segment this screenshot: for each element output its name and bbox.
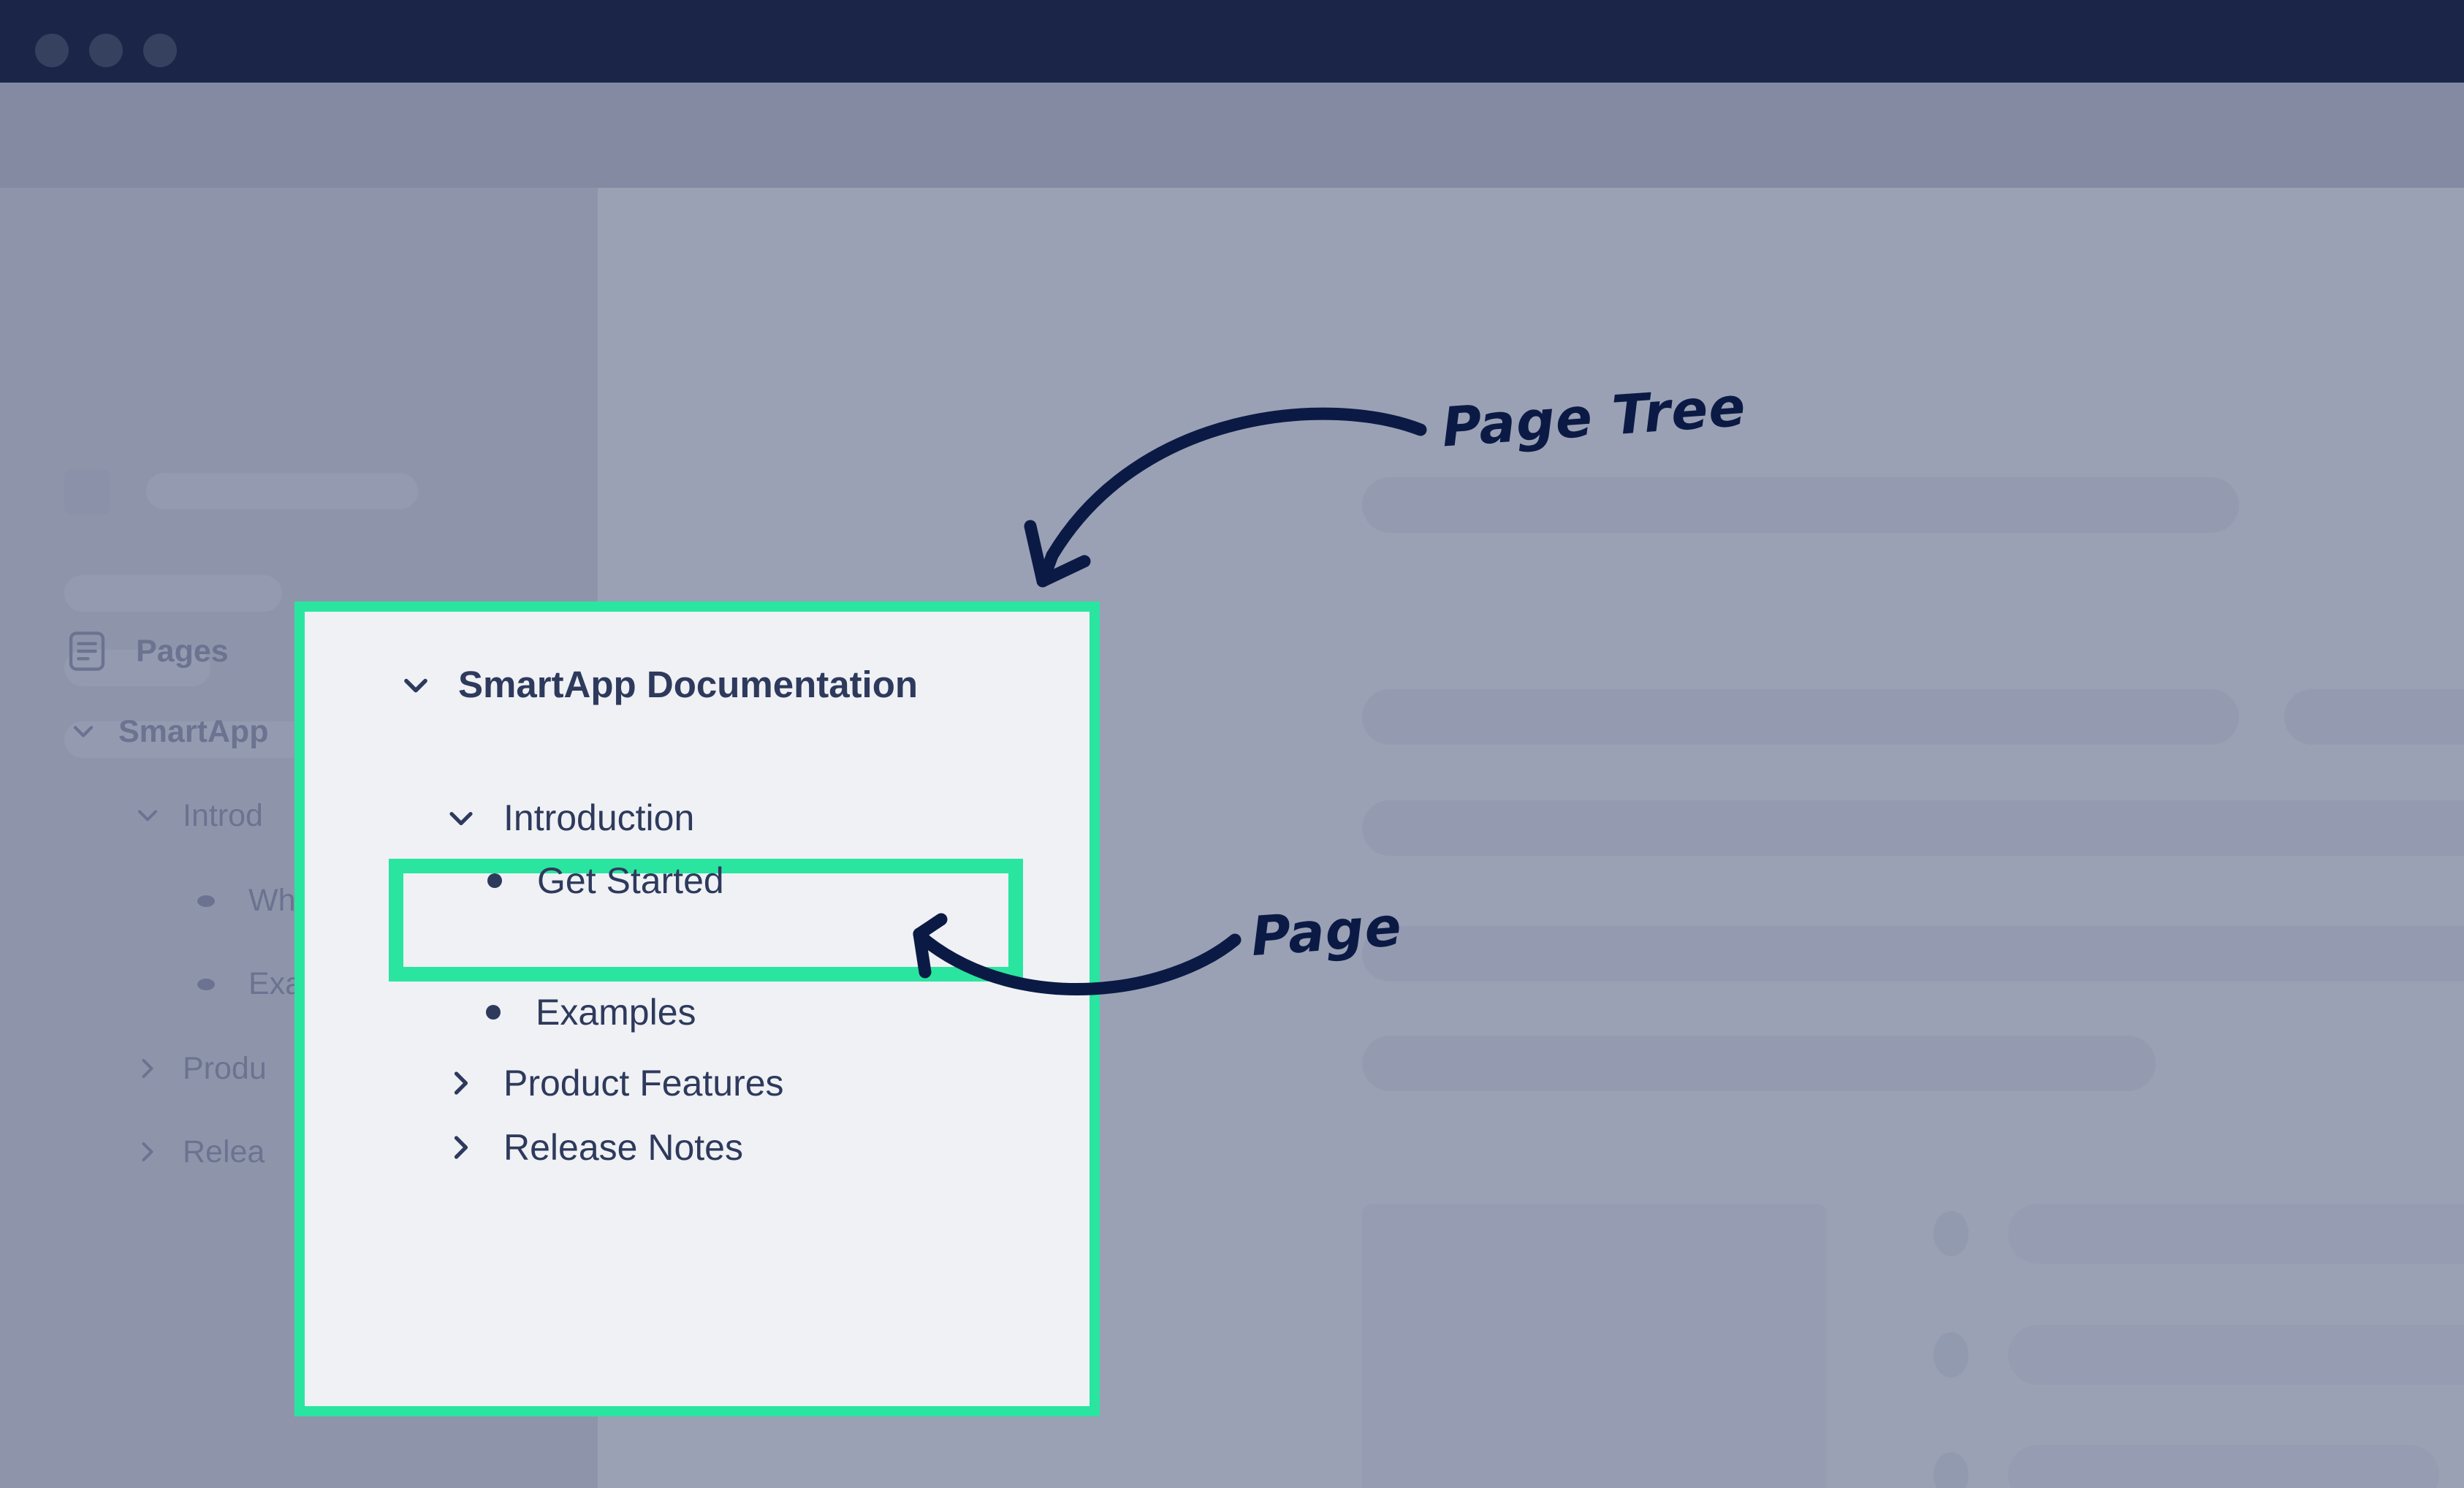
bg-tree-item-release-notes[interactable]: Relea <box>129 1133 265 1171</box>
content-list-bar-2 <box>2008 1325 2464 1385</box>
app-toolbar <box>0 83 2464 188</box>
content-list-bar-3 <box>2008 1445 2439 1488</box>
content-list-bar-1 <box>2008 1204 2464 1264</box>
content-placeholder-5 <box>1362 926 2464 982</box>
tree-item-label: Product Features <box>503 1062 784 1104</box>
tree-item-smartapp-documentation[interactable]: SmartApp Documentation <box>395 663 918 706</box>
content-placeholder-3 <box>2284 689 2464 745</box>
chevron-down-icon[interactable] <box>395 664 436 705</box>
tree-item-label: Get Started <box>537 859 724 902</box>
content-list-bullet-3 <box>1933 1452 1969 1488</box>
window-dot-maximize-icon[interactable] <box>143 34 177 67</box>
tree-item-get-started[interactable]: Get Started <box>487 859 724 902</box>
bullet-icon <box>487 873 502 888</box>
annotation-page: Page <box>1249 895 1404 968</box>
bullet-icon <box>197 895 215 907</box>
tree-item-label: Introduction <box>503 797 694 839</box>
chevron-down-icon[interactable] <box>64 713 102 751</box>
sidebar-logo-placeholder <box>64 469 110 515</box>
chevron-right-icon[interactable] <box>129 1049 167 1087</box>
bg-tree-item-examples[interactable]: Exa <box>191 966 303 1002</box>
bg-tree-label: Produ <box>183 1051 267 1087</box>
bg-tree-item-what[interactable]: Wh <box>191 883 296 919</box>
chevron-down-icon[interactable] <box>129 797 167 835</box>
content-list-bullet-1 <box>1933 1211 1969 1256</box>
content-placeholder-1 <box>1362 477 2239 533</box>
bg-tree-label: Introd <box>183 798 263 834</box>
chevron-right-icon[interactable] <box>441 1063 482 1104</box>
bg-tree-label: Relea <box>183 1134 265 1170</box>
bg-tree-item-smartapp[interactable]: SmartApp <box>64 713 268 751</box>
tree-item-examples[interactable]: Examples <box>486 991 696 1033</box>
pages-icon <box>64 629 110 674</box>
tree-item-release-notes[interactable]: Release Notes <box>441 1126 743 1169</box>
chevron-right-icon[interactable] <box>129 1133 167 1171</box>
tree-item-product-features[interactable]: Product Features <box>441 1062 784 1104</box>
bg-tree-item-product-features[interactable]: Produ <box>129 1049 267 1087</box>
sidebar-item-placeholder-1 <box>64 575 282 612</box>
content-placeholder-4 <box>1362 800 2464 856</box>
tree-item-label: SmartApp Documentation <box>458 663 918 706</box>
sidebar-title-placeholder <box>146 473 418 509</box>
chevron-down-icon[interactable] <box>441 797 482 838</box>
window-dot-minimize-icon[interactable] <box>89 34 123 67</box>
bg-tree-item-introduction[interactable]: Introd <box>129 797 263 835</box>
content-card-placeholder <box>1362 1204 1827 1488</box>
app-window: Pages SmartApp Introd Wh Exa Pro <box>0 0 2464 1488</box>
tree-item-introduction[interactable]: Introduction <box>441 797 694 839</box>
popover-page-tree-body: SmartApp Documentation Introduction Get … <box>305 612 1090 1406</box>
sidebar-nav-pages-label: Pages <box>136 634 229 669</box>
window-dot-close-icon[interactable] <box>35 34 69 67</box>
chevron-right-icon[interactable] <box>441 1127 482 1168</box>
content-list-bullet-2 <box>1933 1332 1969 1378</box>
sidebar-nav-pages[interactable]: Pages <box>64 629 229 674</box>
bullet-icon <box>486 1005 501 1020</box>
tree-item-label: Examples <box>536 991 696 1033</box>
content-placeholder-6 <box>1362 1036 2156 1091</box>
window-titlebar <box>0 0 2464 83</box>
bullet-icon <box>197 979 215 990</box>
bg-tree-label: SmartApp <box>118 714 268 750</box>
popover-page-tree: SmartApp Documentation Introduction Get … <box>294 601 1100 1416</box>
bg-tree-label: Wh <box>248 883 296 919</box>
content-placeholder-2 <box>1362 689 2239 745</box>
tree-item-label: Release Notes <box>503 1126 743 1169</box>
